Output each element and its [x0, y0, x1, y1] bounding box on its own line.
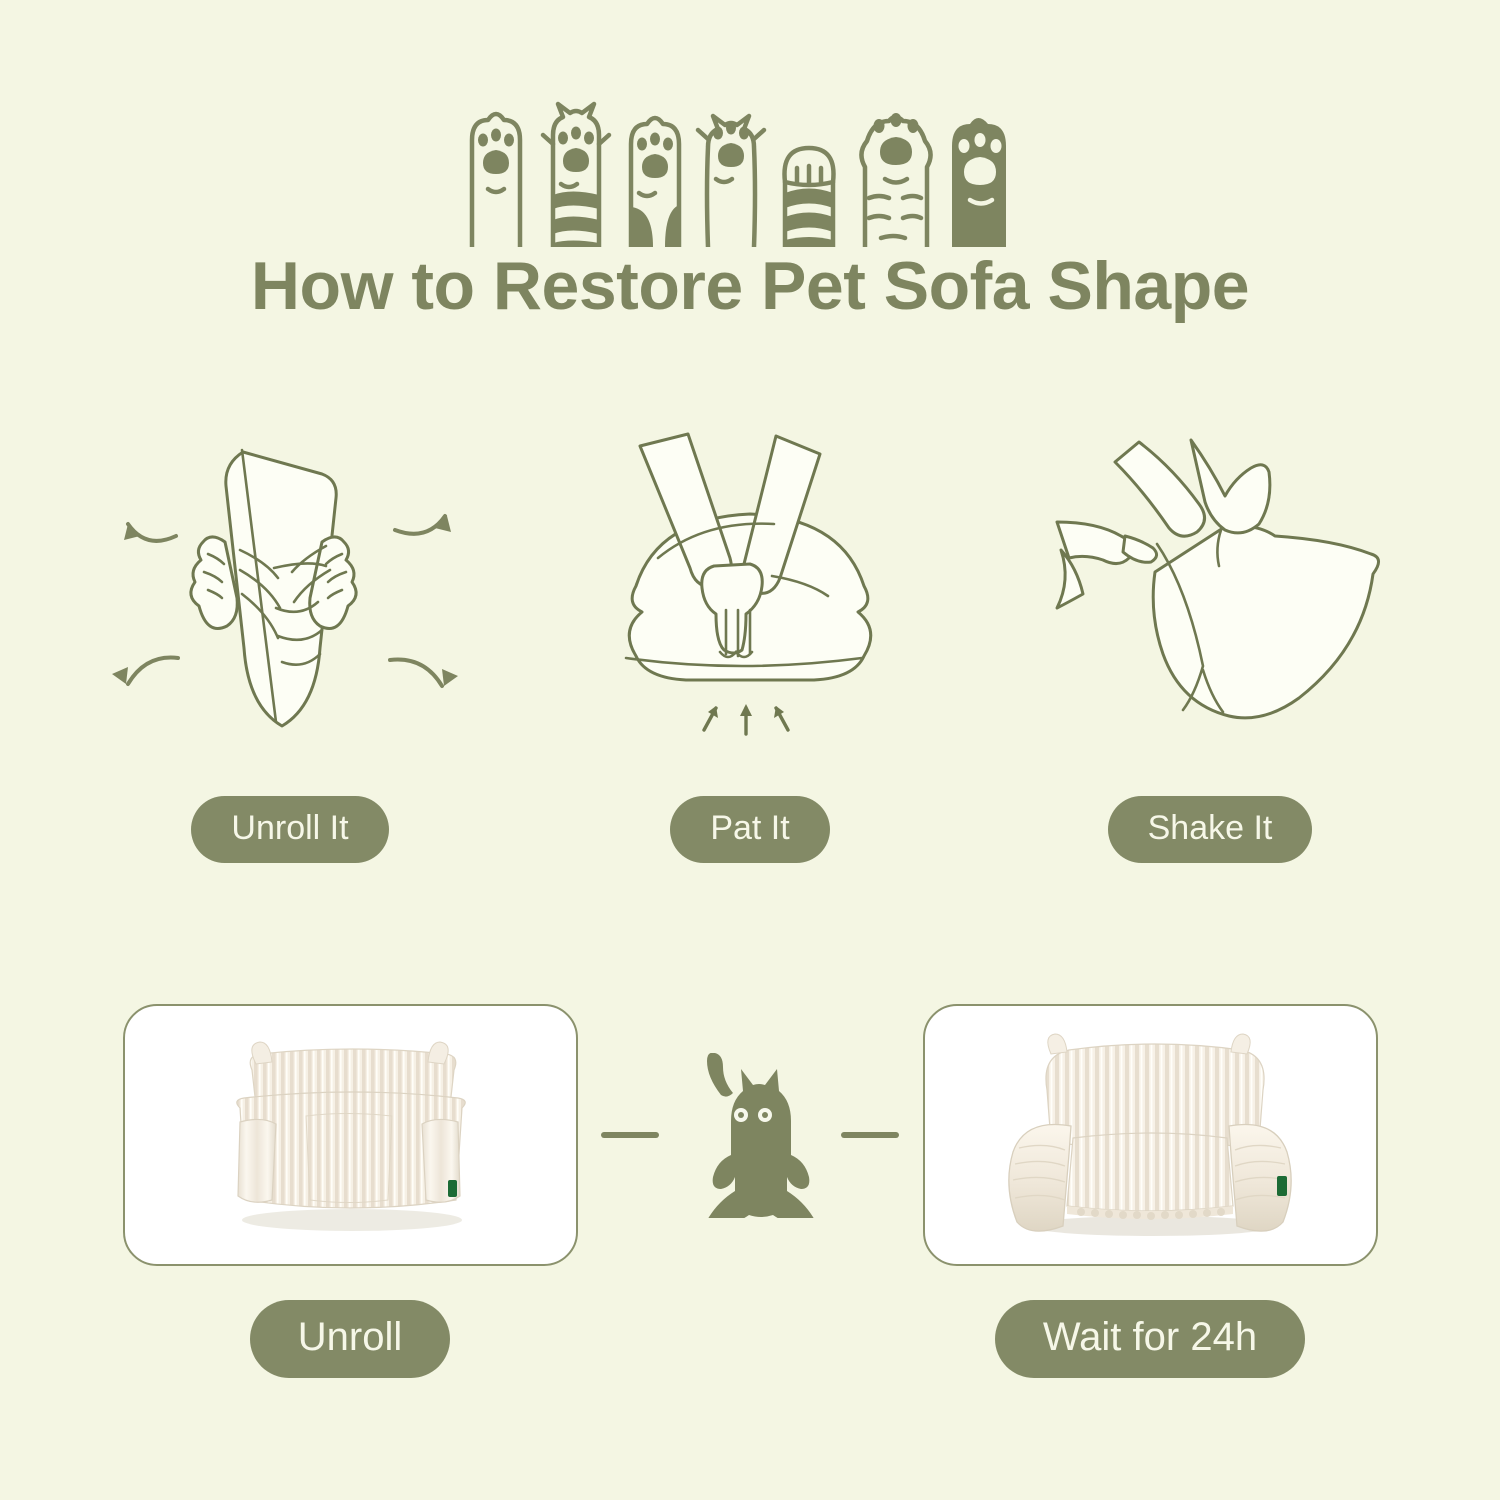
cat-silhouette-icon	[685, 1053, 815, 1218]
step-unroll-it: Unroll It	[60, 430, 520, 863]
hands-stretching-fabric-icon	[90, 430, 490, 760]
paw-banner	[0, 62, 1500, 247]
label-slot-after: Wait for 24h	[923, 1300, 1378, 1378]
hands-patting-cushion-icon	[580, 430, 920, 760]
step-shake-it: Shake It	[980, 430, 1440, 863]
pet-sofa-expanded-photo	[985, 1028, 1315, 1243]
steps-row: Unroll It	[0, 430, 1500, 870]
label-unroll: Unroll	[250, 1300, 450, 1378]
product-photo-card-after	[923, 1004, 1378, 1266]
step-illustration	[580, 430, 920, 760]
separator-dash-right	[841, 1132, 899, 1138]
separator-group	[578, 1004, 923, 1266]
brand-tag	[1277, 1176, 1287, 1196]
step-label-unroll-it: Unroll It	[191, 796, 388, 863]
separator-dash-left	[601, 1132, 659, 1138]
step-label-shake-it: Shake It	[1108, 796, 1313, 863]
pet-sofa-rolled-photo	[200, 1030, 500, 1240]
step-illustration	[90, 430, 490, 760]
cat-paws-row-icon	[440, 62, 1060, 247]
label-wait-for-24h: Wait for 24h	[995, 1300, 1305, 1378]
page-title: How to Restore Pet Sofa Shape	[0, 252, 1500, 320]
hands-shaking-fabric-icon	[1035, 430, 1385, 760]
step-illustration	[1035, 430, 1385, 760]
infographic-root: How to Restore Pet Sofa Shape	[0, 0, 1500, 1500]
label-slot-before: Unroll	[123, 1300, 578, 1378]
brand-tag	[448, 1180, 457, 1197]
step-pat-it: Pat It	[520, 430, 980, 863]
before-after-labels: Unroll Wait for 24h	[0, 1300, 1500, 1380]
step-label-pat-it: Pat It	[670, 796, 829, 863]
before-after-row	[0, 1000, 1500, 1270]
product-photo-card-before	[123, 1004, 578, 1266]
